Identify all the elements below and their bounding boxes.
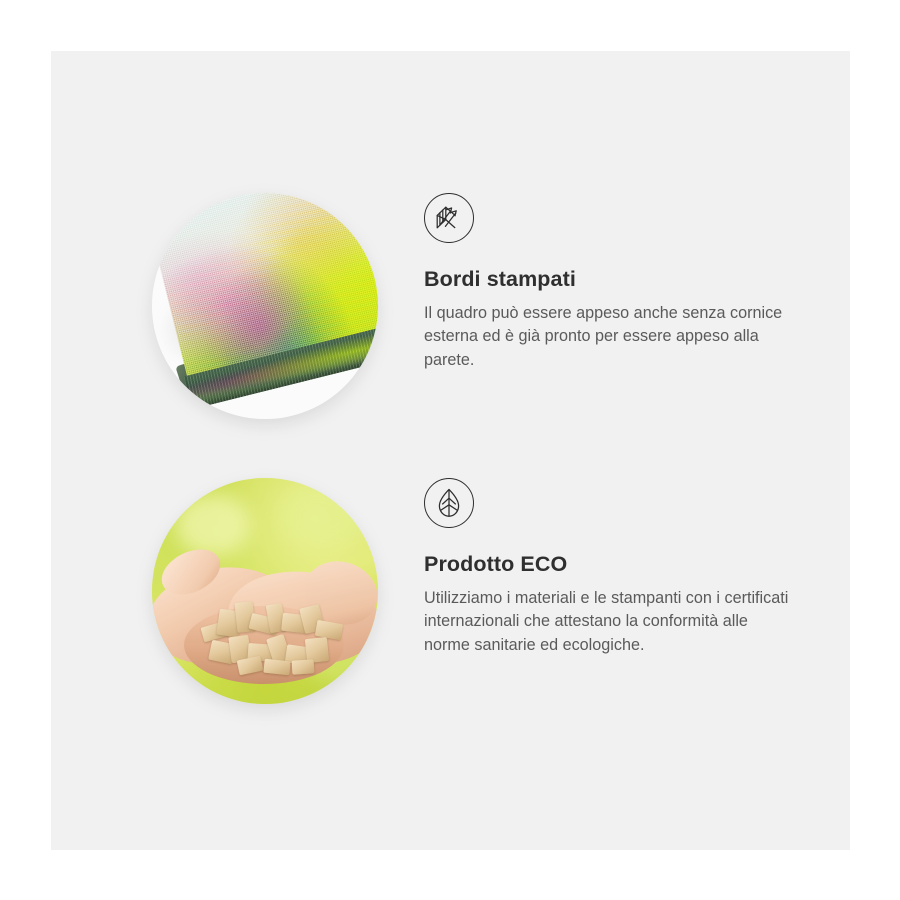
hands-holding-chips <box>154 550 378 678</box>
canvas-photo <box>152 193 378 419</box>
product-feature-page: Bordi stampati Il quadro può essere appe… <box>0 0 900 900</box>
eco-photo-background <box>152 478 378 704</box>
wood-chips <box>198 602 346 676</box>
feature-description: Il quadro può essere appeso anche senza … <box>424 302 796 373</box>
feature-title: Prodotto ECO <box>424 552 824 578</box>
feature-1-text-column: Bordi stampati Il quadro può essere appe… <box>424 193 824 372</box>
bokeh-highlight <box>176 494 250 556</box>
eco-photo <box>152 478 378 704</box>
canvas-corner-object <box>152 193 378 419</box>
feature-description: Utilizziamo i materiali e le stampanti c… <box>424 587 796 658</box>
wrapped-canvas-edge-icon <box>424 193 474 243</box>
feature-title: Bordi stampati <box>424 267 824 293</box>
bokeh-highlight <box>280 486 368 544</box>
canvas-photo-background <box>152 193 378 419</box>
content-panel: Bordi stampati Il quadro può essere appe… <box>51 51 850 850</box>
feature-2-text-column: Prodotto ECO Utilizziamo i materiali e l… <box>424 478 824 657</box>
leaf-icon <box>424 478 474 528</box>
